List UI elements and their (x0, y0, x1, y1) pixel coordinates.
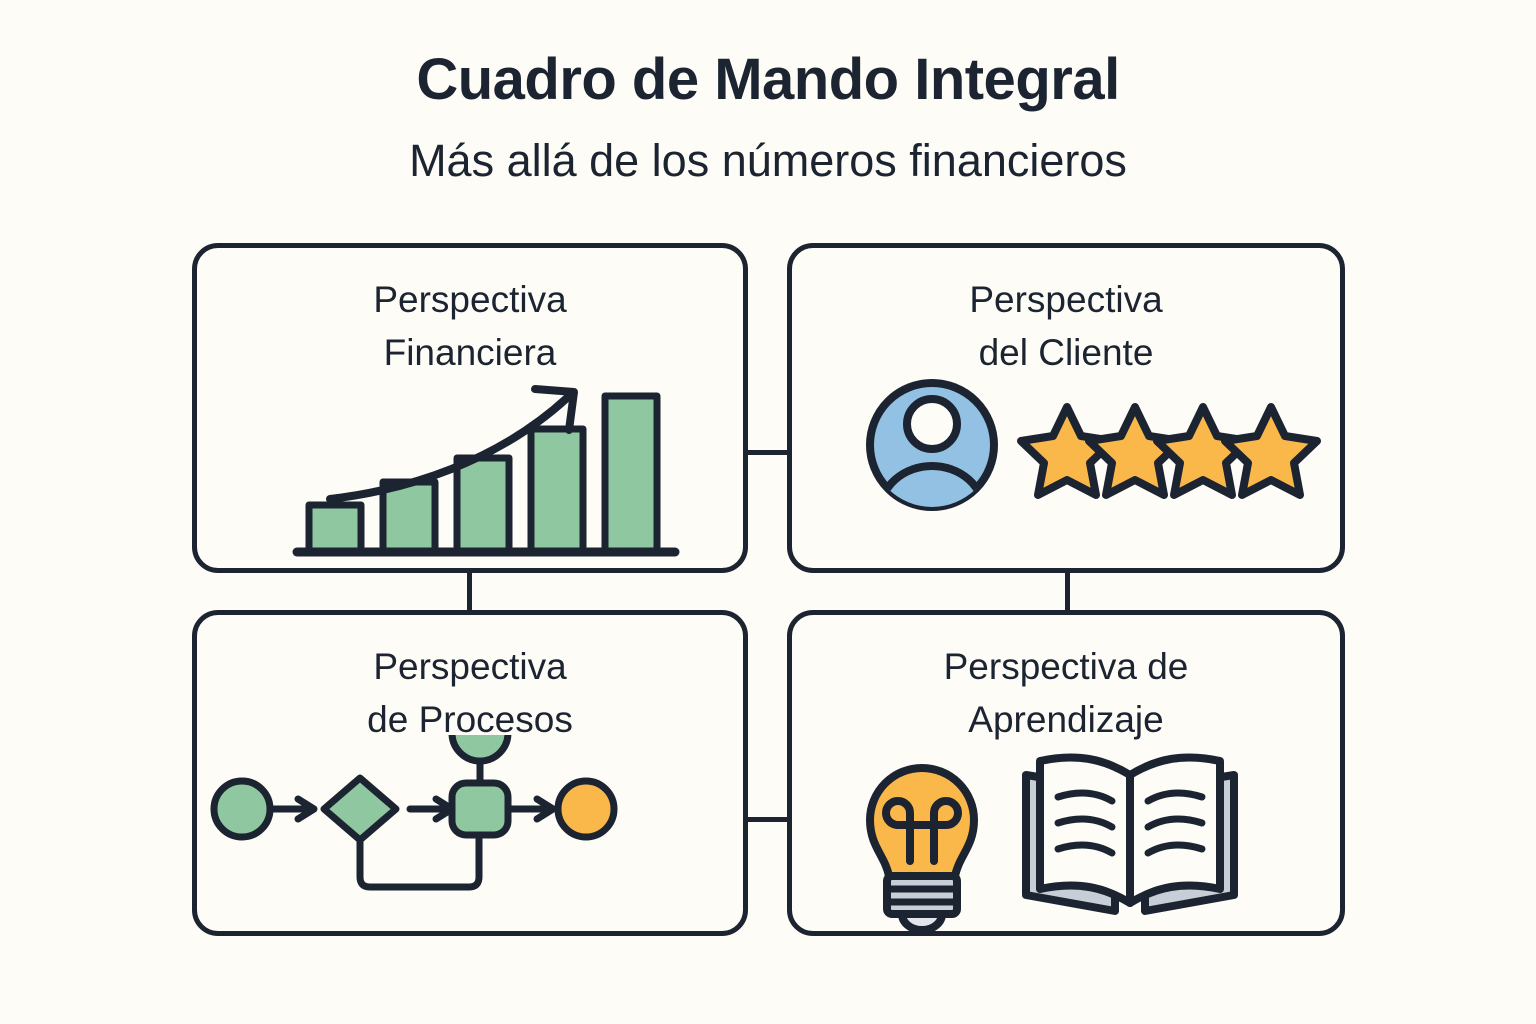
quadrant-financiera[interactable]: Perspectiva Financiera (192, 243, 748, 573)
lightbulb-book-icon (792, 735, 1340, 931)
connector-top-horizontal (748, 450, 788, 455)
quadrant-cliente[interactable]: Perspectiva del Cliente (787, 243, 1345, 573)
quadrant-title-financiera: Perspectiva Financiera (197, 274, 743, 379)
connector-bottom-horizontal (748, 817, 788, 822)
quadrant-aprendizaje[interactable]: Perspectiva de Aprendizaje (787, 610, 1345, 936)
quadrant-title-procesos: Perspectiva de Procesos (197, 641, 743, 746)
quadrant-title-cliente: Perspectiva del Cliente (792, 274, 1340, 379)
connector-left-vertical (467, 570, 472, 612)
page-title: Cuadro de Mando Integral (0, 48, 1536, 112)
bar-chart-growth-icon (197, 372, 743, 568)
connector-right-vertical (1065, 570, 1070, 612)
page-subtitle: Más allá de los números financieros (0, 136, 1536, 186)
infographic-canvas: Cuadro de Mando Integral Más allá de los… (0, 0, 1536, 1024)
quadrant-title-aprendizaje: Perspectiva de Aprendizaje (792, 641, 1340, 746)
customer-rating-icon (792, 372, 1340, 568)
quadrant-procesos[interactable]: Perspectiva de Procesos (192, 610, 748, 936)
process-flow-icon (197, 735, 743, 931)
